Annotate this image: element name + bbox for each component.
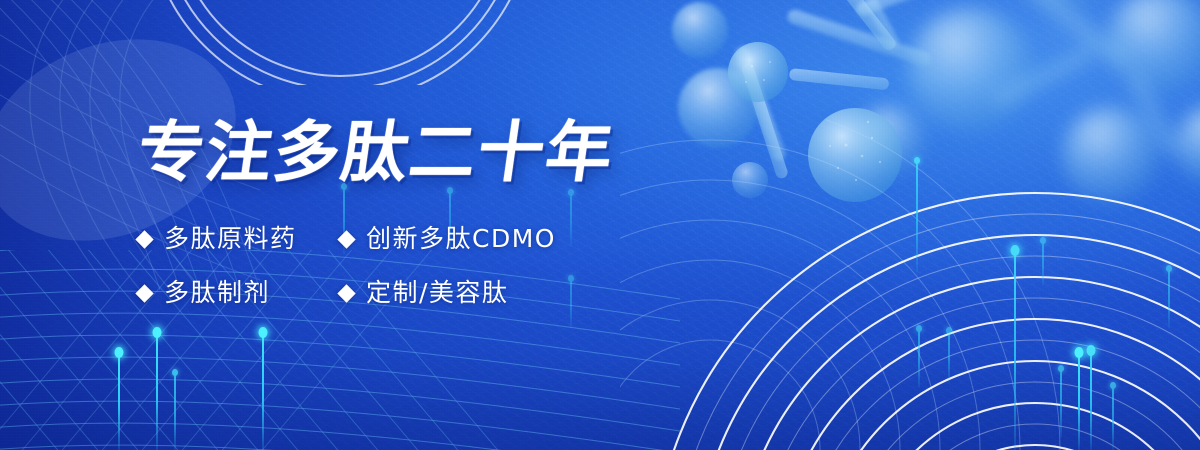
bullet-item-innovative-peptide-cdmo[interactable]: 创新多肽CDMO	[340, 225, 556, 253]
bullet-row: 多肽原料药 创新多肽CDMO	[138, 218, 658, 260]
diamond-bullet-icon	[135, 284, 153, 302]
diamond-bullet-icon	[337, 230, 355, 248]
peptide-hero-banner: 专注多肽二十年 多肽原料药 创新多肽CDMO 多肽制剂	[0, 0, 1200, 450]
bullet-label: 多肽原料药	[164, 225, 297, 253]
diamond-bullet-icon	[337, 284, 355, 302]
banner-content: 专注多肽二十年 多肽原料药 创新多肽CDMO 多肽制剂	[0, 0, 1200, 450]
feature-bullet-list: 多肽原料药 创新多肽CDMO 多肽制剂 定制/美容肽	[138, 218, 658, 314]
bullet-item-peptide-formulation[interactable]: 多肽制剂	[138, 279, 340, 307]
bullet-label: 创新多肽CDMO	[366, 225, 556, 253]
bullet-item-peptide-api[interactable]: 多肽原料药	[138, 225, 340, 253]
bullet-row: 多肽制剂 定制/美容肽	[138, 272, 658, 314]
page-title: 专注多肽二十年	[133, 118, 619, 188]
bullet-item-custom-cosmetic-peptide[interactable]: 定制/美容肽	[340, 279, 508, 307]
bullet-label: 多肽制剂	[164, 279, 270, 307]
bullet-label: 定制/美容肽	[366, 279, 508, 307]
diamond-bullet-icon	[135, 230, 153, 248]
